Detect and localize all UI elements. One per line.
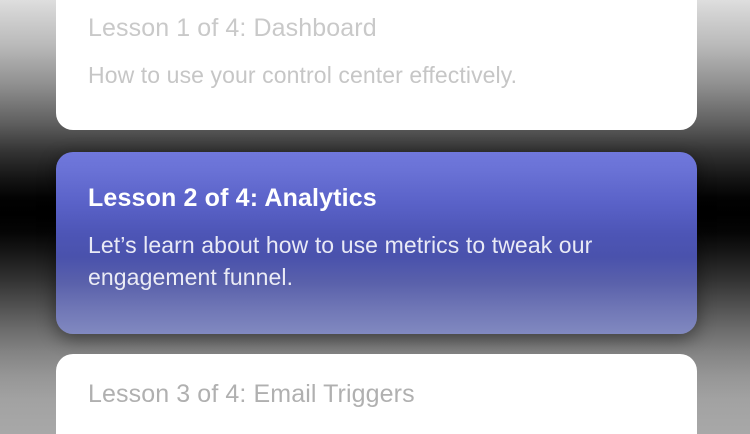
lesson-card-3-body: [88, 410, 665, 427]
lesson-card-1-body: How to use your control center effective…: [88, 44, 665, 91]
lesson-carousel-screen: Lesson 1 of 4: Dashboard How to use your…: [0, 0, 750, 434]
lesson-card-1-title: Lesson 1 of 4: Dashboard: [88, 0, 665, 44]
lesson-card-3-title: Lesson 3 of 4: Email Triggers: [88, 354, 665, 410]
lesson-card-2-title: Lesson 2 of 4: Analytics: [88, 152, 665, 214]
lesson-card-2-active[interactable]: Lesson 2 of 4: Analytics Let’s learn abo…: [56, 152, 697, 334]
lesson-card-2-body: Let’s learn about how to use metrics to …: [88, 214, 608, 295]
lesson-card-3[interactable]: Lesson 3 of 4: Email Triggers: [56, 354, 697, 434]
lesson-card-1[interactable]: Lesson 1 of 4: Dashboard How to use your…: [56, 0, 697, 130]
